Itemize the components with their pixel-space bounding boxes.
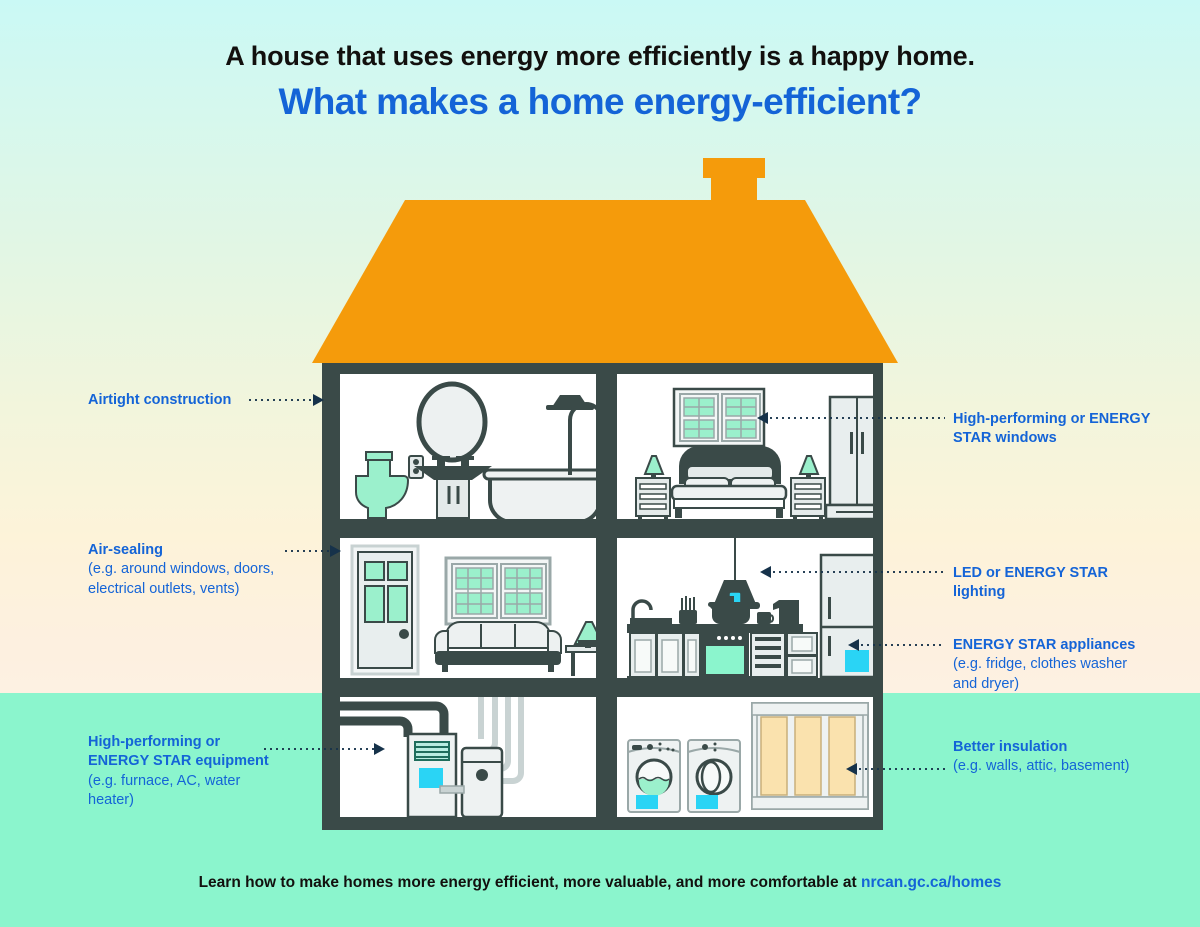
label-equipment-line1: (e.g. furnace, AC, water (88, 772, 269, 791)
label-equipment-line2: heater) (88, 791, 269, 810)
nrcan-link[interactable]: nrcan.gc.ca/homes (861, 874, 1001, 891)
leader-insulation (846, 764, 945, 774)
nightstand-right-icon (791, 478, 825, 521)
label-insulation-line1: (e.g. walls, attic, basement) (953, 757, 1130, 776)
label-airtight-title: Airtight construction (88, 391, 231, 410)
label-windows: High-performing or ENERGY STAR windows (953, 410, 1150, 449)
label-insulation: Better insulation (e.g. walls, attic, ba… (953, 738, 1130, 777)
furnace-icon (408, 734, 456, 817)
label-windows-title1: High-performing or ENERGY (953, 410, 1150, 429)
energy-star-badge-fridge (845, 650, 869, 672)
kitchen-cabinets-icon (630, 633, 700, 677)
label-equipment: High-performing or ENERGY STAR equipment… (88, 733, 269, 810)
label-lighting-title2: lighting (953, 583, 1108, 602)
label-windows-title2: STAR windows (953, 429, 1150, 448)
label-appliances-line1: (e.g. fridge, clothes washer (953, 655, 1135, 674)
label-appliances: ENERGY STAR appliances (e.g. fridge, clo… (953, 636, 1135, 694)
arrow-head-icon (846, 763, 857, 775)
countertop (627, 624, 803, 633)
stove-icon (701, 633, 749, 677)
sofa-icon (435, 622, 561, 672)
arrow-head-icon (374, 743, 385, 755)
label-insulation-title: Better insulation (953, 738, 1130, 757)
label-appliances-line2: and dryer) (953, 675, 1135, 694)
nightstand-left-icon (636, 478, 670, 521)
label-appliances-title: ENERGY STAR appliances (953, 636, 1135, 655)
arrow-head-icon (313, 394, 324, 406)
arrow-head-icon (760, 566, 771, 578)
leader-windows (757, 413, 945, 423)
footer-text: Learn how to make homes more energy effi… (199, 874, 861, 891)
arrow-head-icon (848, 639, 859, 651)
label-air-sealing: Air-sealing (e.g. around windows, doors,… (88, 541, 274, 599)
bedroom-window-icon (674, 389, 764, 446)
mug-icon (757, 612, 773, 624)
kitchen-drawers-icon (751, 633, 817, 677)
roof-shape (312, 200, 898, 363)
dryer-icon (688, 740, 740, 812)
label-air-sealing-title: Air-sealing (88, 541, 274, 560)
energy-star-badge-washer (636, 795, 658, 809)
leader-appliances (848, 640, 945, 650)
energy-star-badge-dryer (696, 795, 718, 809)
washer-icon (628, 740, 680, 812)
label-lighting: LED or ENERGY STAR lighting (953, 564, 1108, 603)
chimney-cap (703, 158, 765, 178)
label-equipment-title1: High-performing or (88, 733, 269, 752)
label-lighting-title1: LED or ENERGY STAR (953, 564, 1108, 583)
arrow-head-icon (330, 545, 341, 557)
roof-group (312, 158, 898, 363)
leader-equipment (262, 744, 385, 754)
entry-door-icon (352, 546, 418, 674)
leader-airtight (247, 395, 324, 405)
label-air-sealing-line2: electrical outlets, vents) (88, 580, 274, 599)
living-window-icon (446, 558, 550, 624)
chimney-stack (711, 176, 757, 204)
bed-icon (672, 446, 786, 518)
label-airtight-construction: Airtight construction (88, 391, 231, 410)
label-air-sealing-line1: (e.g. around windows, doors, (88, 560, 274, 579)
leader-lighting (760, 567, 945, 577)
leader-air-sealing (283, 546, 341, 556)
insulation-wall-icon (752, 703, 868, 809)
footer-cta: Learn how to make homes more energy effi… (0, 874, 1200, 892)
label-equipment-title2: ENERGY STAR equipment (88, 752, 269, 771)
mirror-icon (419, 384, 485, 460)
energy-star-badge-furnace (419, 768, 443, 788)
arrow-head-icon (757, 412, 768, 424)
